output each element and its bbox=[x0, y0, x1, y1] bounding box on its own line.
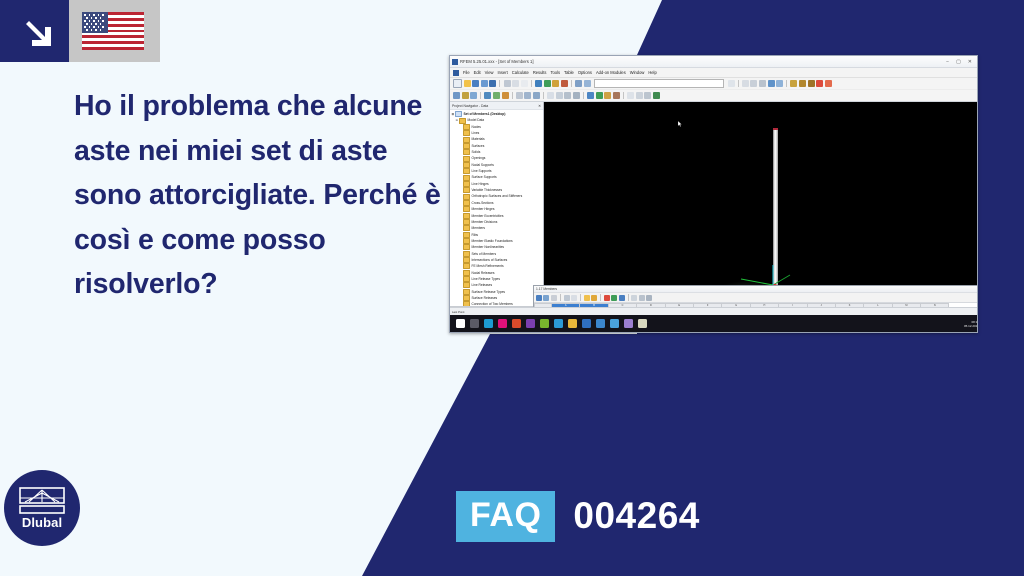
table-tool-paste-icon[interactable] bbox=[571, 295, 577, 301]
tool-layer-icon[interactable] bbox=[573, 92, 580, 99]
table-toolbar[interactable] bbox=[534, 293, 978, 303]
menu-app-icon bbox=[453, 70, 459, 76]
window-controls[interactable]: − ▢ ✕ bbox=[946, 59, 975, 65]
toolbar-separator bbox=[543, 92, 544, 99]
tool-node-icon[interactable] bbox=[462, 92, 469, 99]
tool-stop-icon[interactable] bbox=[816, 80, 823, 87]
tool-section-icon[interactable] bbox=[613, 92, 620, 99]
tool-results-icon[interactable] bbox=[799, 80, 806, 87]
work-area: Project Navigator - Data ✕ ⊞Set of Membe… bbox=[450, 102, 977, 315]
tree-node-label: Connection of Two Members bbox=[472, 301, 513, 306]
taskbar-app4-icon[interactable] bbox=[582, 319, 591, 328]
menu-item-table[interactable]: Table bbox=[564, 70, 574, 75]
menu-item-file[interactable]: File bbox=[463, 70, 470, 75]
menu-item-window[interactable]: Window bbox=[630, 70, 645, 75]
tree-folder-icon bbox=[463, 200, 470, 206]
table-tool-mark-icon[interactable] bbox=[604, 295, 610, 301]
tree-folder-icon bbox=[459, 118, 466, 124]
navigator-header: Project Navigator - Data ✕ bbox=[450, 102, 543, 110]
menu-item-calculate[interactable]: Calculate bbox=[512, 70, 529, 75]
table-tool-insert-icon[interactable] bbox=[543, 295, 549, 301]
toolbar-separator bbox=[571, 80, 572, 87]
toolbar-separator bbox=[531, 80, 532, 87]
maximize-icon[interactable]: ▢ bbox=[956, 59, 961, 65]
tool-load-icon[interactable] bbox=[533, 92, 540, 99]
tree-folder-icon bbox=[463, 244, 470, 250]
tree-folder-icon bbox=[463, 175, 470, 181]
toolbar-separator bbox=[738, 80, 739, 87]
truss-bridge-icon bbox=[19, 487, 65, 515]
table-tool-ok-icon[interactable] bbox=[611, 295, 617, 301]
faq-number: 004264 bbox=[573, 496, 699, 536]
taskbar-app1-icon[interactable] bbox=[498, 319, 507, 328]
tool-undo-icon[interactable] bbox=[535, 80, 542, 87]
tool-copy-icon[interactable] bbox=[512, 80, 519, 87]
tree-folder-icon bbox=[463, 232, 470, 238]
menu-bar[interactable]: File Edit View Insert Calculate Results … bbox=[450, 68, 977, 78]
tree-folder-icon bbox=[463, 295, 470, 301]
tree-node[interactable]: Connection of Two Members bbox=[451, 301, 543, 306]
us-flag-icon bbox=[82, 12, 144, 50]
clock-date: 05.12.2018 bbox=[964, 324, 978, 328]
tool-paste-icon[interactable] bbox=[521, 80, 528, 87]
headline-text: Ho il problema che alcune aste nei miei … bbox=[74, 84, 444, 307]
menu-item-results[interactable]: Results bbox=[533, 70, 547, 75]
tool-redo-icon[interactable] bbox=[544, 80, 551, 87]
toolbar-separator bbox=[623, 92, 624, 99]
table-tool-delete-icon[interactable] bbox=[551, 295, 557, 301]
tree-folder-icon bbox=[463, 156, 470, 162]
table-tool-edit-icon[interactable] bbox=[536, 295, 542, 301]
model-axes bbox=[544, 102, 977, 315]
navigator-close-icon[interactable]: ✕ bbox=[538, 104, 543, 108]
status-text: Last Point bbox=[452, 310, 464, 314]
taskbar-search-icon[interactable] bbox=[470, 319, 479, 328]
tool-support-icon[interactable] bbox=[516, 92, 523, 99]
table-tool-sort-icon[interactable] bbox=[591, 295, 597, 301]
flag-canton bbox=[82, 12, 108, 33]
tree-folder-icon bbox=[463, 213, 470, 219]
tree-folder-icon bbox=[463, 270, 470, 276]
table-tool-filter-icon[interactable] bbox=[584, 295, 590, 301]
tree-folder-icon bbox=[463, 187, 470, 193]
tool-report-icon[interactable] bbox=[808, 80, 815, 87]
taskbar-chrome-icon[interactable] bbox=[512, 319, 521, 328]
tree-folder-icon bbox=[463, 238, 470, 244]
loadcase-combo[interactable] bbox=[594, 79, 724, 88]
tree-folder-icon bbox=[463, 257, 470, 263]
tool-solid-icon[interactable] bbox=[502, 92, 509, 99]
tree-folder-icon bbox=[463, 225, 470, 231]
tool-check-icon[interactable] bbox=[596, 92, 603, 99]
tool-view-iso-icon[interactable] bbox=[759, 80, 766, 87]
table-tool-settings-icon[interactable] bbox=[619, 295, 625, 301]
minimize-icon[interactable]: − bbox=[946, 59, 949, 65]
table-toolbar-separator bbox=[600, 294, 601, 301]
logo-label: Dlubal bbox=[22, 516, 62, 529]
tree-folder-icon bbox=[463, 168, 470, 174]
tree-folder-icon bbox=[463, 130, 470, 136]
window-titlebar: RFEM 5.25.01.xxx - [Set of Members 1] − … bbox=[450, 56, 977, 68]
tree-folder-icon bbox=[463, 206, 470, 212]
table-tool-copy-icon[interactable] bbox=[564, 295, 570, 301]
toolbar-secondary[interactable] bbox=[450, 90, 977, 102]
table-tool-print-icon[interactable] bbox=[631, 295, 637, 301]
tool-mesh-icon[interactable] bbox=[587, 92, 594, 99]
taskbar-explorer-icon[interactable] bbox=[568, 319, 577, 328]
tool-view-front-icon[interactable] bbox=[742, 80, 749, 87]
tree-folder-icon bbox=[463, 124, 470, 130]
rfem-application-window: RFEM 5.25.01.xxx - [Set of Members 1] − … bbox=[449, 55, 978, 333]
toolbar-primary[interactable] bbox=[450, 78, 977, 90]
tree-folder-icon bbox=[463, 162, 470, 168]
toolbar-separator bbox=[480, 92, 481, 99]
tree-folder-icon bbox=[463, 194, 470, 200]
taskbar-app3-icon[interactable] bbox=[554, 319, 563, 328]
mouse-cursor-icon bbox=[678, 121, 682, 127]
taskbar-edge-icon[interactable] bbox=[484, 319, 493, 328]
tool-combo-arrow-icon[interactable] bbox=[728, 80, 735, 87]
tree-folder-icon bbox=[463, 137, 470, 143]
tool-snap-icon[interactable] bbox=[584, 80, 591, 87]
navigator-title: Project Navigator - Data bbox=[452, 104, 488, 108]
toolbar-separator bbox=[499, 80, 500, 87]
tree-folder-icon bbox=[463, 276, 470, 282]
taskbar-clock[interactable]: 08:15 05.12.2018 bbox=[964, 320, 978, 328]
table-toolbar-separator bbox=[580, 294, 581, 301]
tree-folder-icon bbox=[463, 282, 470, 288]
tool-calc-icon[interactable] bbox=[790, 80, 797, 87]
tool-saveall-icon[interactable] bbox=[481, 80, 488, 87]
windows-taskbar[interactable]: 08:15 05.12.2018 bbox=[450, 315, 978, 332]
tool-line-icon[interactable] bbox=[470, 92, 477, 99]
tree-folder-icon bbox=[463, 149, 470, 155]
tool-render-icon[interactable] bbox=[561, 80, 568, 87]
taskbar-start-icon[interactable] bbox=[456, 319, 465, 328]
project-navigator[interactable]: Project Navigator - Data ✕ ⊞Set of Membe… bbox=[450, 102, 544, 315]
tree-folder-icon bbox=[463, 263, 470, 269]
status-bar: Last Point bbox=[450, 307, 978, 315]
tree-folder-icon bbox=[455, 111, 462, 117]
tool-surface-icon[interactable] bbox=[493, 92, 500, 99]
table-tool-help-icon[interactable] bbox=[646, 295, 652, 301]
faq-badge: FAQ bbox=[456, 491, 555, 542]
menu-item-addon-modules[interactable]: Add-on Modules bbox=[596, 70, 626, 75]
tree-folder-icon bbox=[463, 301, 470, 306]
tool-print-icon[interactable] bbox=[489, 80, 496, 87]
tool-display-icon[interactable] bbox=[768, 80, 775, 87]
navigator-tree[interactable]: ⊞Set of Members1 (Desktop)⊞Model DataNod… bbox=[450, 110, 543, 306]
tool-text-icon[interactable] bbox=[564, 92, 571, 99]
menu-item-options[interactable]: Options bbox=[578, 70, 592, 75]
tool-cut-icon[interactable] bbox=[504, 80, 511, 87]
tool-zoomwin-icon[interactable] bbox=[644, 92, 651, 99]
app-icon bbox=[452, 59, 458, 65]
window-title: RFEM 5.25.01.xxx - [Set of Members 1] bbox=[460, 59, 534, 64]
tree-folder-icon bbox=[463, 289, 470, 295]
tool-open-icon[interactable] bbox=[464, 80, 471, 87]
toolbar-separator bbox=[512, 92, 513, 99]
taskbar-app7-icon[interactable] bbox=[624, 319, 633, 328]
table-toolbar-separator bbox=[560, 294, 561, 301]
tool-fe-icon[interactable] bbox=[604, 92, 611, 99]
tree-folder-icon bbox=[463, 251, 470, 257]
toolbar-separator bbox=[583, 92, 584, 99]
menu-item-edit[interactable]: Edit bbox=[474, 70, 481, 75]
menu-item-tools[interactable]: Tools bbox=[550, 70, 560, 75]
tool-pan-icon[interactable] bbox=[627, 92, 634, 99]
menu-item-help[interactable]: Help bbox=[648, 70, 656, 75]
arrow-down-right-icon bbox=[22, 16, 56, 50]
taskbar-rfem-icon[interactable] bbox=[638, 319, 647, 328]
tool-dimension-icon[interactable] bbox=[556, 92, 563, 99]
slide-canvas: Ho il problema che alcune aste nei miei … bbox=[0, 0, 1024, 576]
taskbar-excel-icon[interactable] bbox=[540, 319, 549, 328]
tool-shade-icon[interactable] bbox=[776, 80, 783, 87]
tool-select-icon[interactable] bbox=[453, 92, 460, 99]
table-title: 1.17 Members bbox=[534, 286, 978, 293]
table-toolbar-separator bbox=[628, 294, 629, 301]
tool-save-icon[interactable] bbox=[472, 80, 479, 87]
tool-view-top-icon[interactable] bbox=[750, 80, 757, 87]
dlubal-logo: Dlubal bbox=[4, 470, 80, 546]
tool-zoom-icon[interactable] bbox=[552, 80, 559, 87]
tool-hinge-icon[interactable] bbox=[524, 92, 531, 99]
table-tool-export-icon[interactable] bbox=[639, 295, 645, 301]
tree-folder-icon bbox=[463, 143, 470, 149]
menu-item-insert[interactable]: Insert bbox=[497, 70, 507, 75]
model-viewport-3d[interactable] bbox=[544, 102, 977, 315]
tool-grid-icon[interactable] bbox=[575, 80, 582, 87]
taskbar-app2-icon[interactable] bbox=[526, 319, 535, 328]
taskbar-app6-icon[interactable] bbox=[610, 319, 619, 328]
tool-export-icon[interactable] bbox=[825, 80, 832, 87]
tree-folder-icon bbox=[463, 181, 470, 187]
menu-item-view[interactable]: View bbox=[485, 70, 494, 75]
tool-visibility-icon[interactable] bbox=[653, 92, 660, 99]
faq-footer: FAQ 004264 bbox=[456, 492, 700, 540]
close-icon[interactable]: ✕ bbox=[968, 59, 972, 65]
tool-new-icon[interactable] bbox=[453, 79, 462, 88]
tree-folder-icon bbox=[463, 219, 470, 225]
tool-measure-icon[interactable] bbox=[547, 92, 554, 99]
toolbar-separator bbox=[786, 80, 787, 87]
taskbar-app5-icon[interactable] bbox=[596, 319, 605, 328]
tool-rotate-icon[interactable] bbox=[636, 92, 643, 99]
tool-member-icon[interactable] bbox=[484, 92, 491, 99]
